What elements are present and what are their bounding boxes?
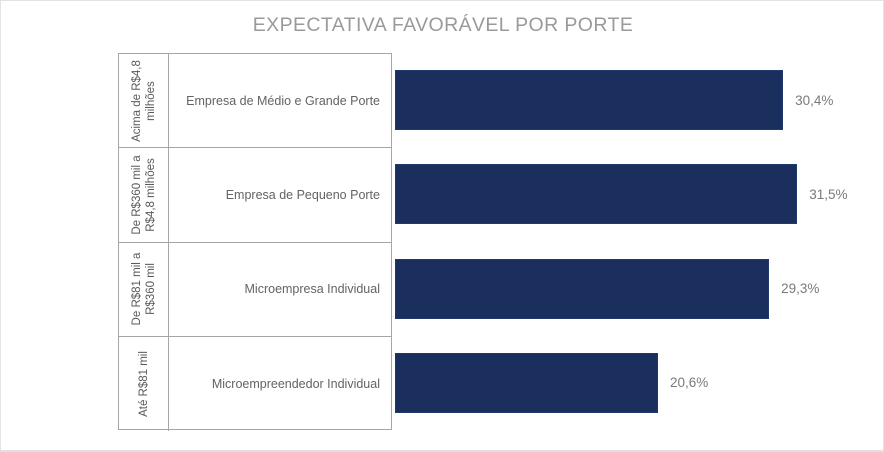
category-row: Acima de R$4,8 milhões Empresa de Médio … [119,54,391,148]
bar-row: 29,3% [395,242,851,336]
bar[interactable] [395,70,783,130]
category-label: Empresa de Médio e Grande Porte [186,94,380,108]
bar-value-label: 31,5% [809,187,847,202]
chart-title: EXPECTATIVA FAVORÁVEL POR PORTE [1,14,884,37]
category-name-cell: Microempreendedor Individual [169,337,391,431]
bar-value-label: 30,4% [795,93,833,108]
axis-tier-label: Até R$81 mil [137,338,151,430]
category-label: Empresa de Pequeno Porte [226,188,380,202]
bar-value-label: 29,3% [781,281,819,296]
bar[interactable] [395,164,797,224]
axis-tier-label-cell: Até R$81 mil [119,337,169,431]
bar-row: 31,5% [395,147,851,241]
category-row: De R$81 mil a R$360 mil Microempresa Ind… [119,243,391,337]
category-row: De R$360 mil a R$4,8 milhões Empresa de … [119,148,391,242]
bar[interactable] [395,259,769,319]
category-name-cell: Empresa de Pequeno Porte [169,148,391,241]
bars-layer: 30,4% 31,5% 29,3% 20,6% [395,53,851,430]
chart-container: EXPECTATIVA FAVORÁVEL POR PORTE Acima de… [0,0,884,452]
category-label: Microempreendedor Individual [212,377,380,391]
bar-value-label: 20,6% [670,375,708,390]
bar-row: 30,4% [395,53,851,147]
category-name-cell: Microempresa Individual [169,243,391,336]
category-axis-table: Acima de R$4,8 milhões Empresa de Médio … [118,53,392,430]
category-label: Microempresa Individual [245,282,380,296]
category-row: Até R$81 mil Microempreendedor Individua… [119,337,391,431]
axis-tier-label: De R$81 mil a R$360 mil [130,243,158,335]
axis-tier-label: De R$360 mil a R$4,8 milhões [130,149,158,241]
axis-tier-label-cell: De R$360 mil a R$4,8 milhões [119,148,169,241]
axis-tier-label-cell: Acima de R$4,8 milhões [119,54,169,147]
category-name-cell: Empresa de Médio e Grande Porte [169,54,391,147]
bar[interactable] [395,353,658,413]
bar-row: 20,6% [395,336,851,430]
axis-tier-label: Acima de R$4,8 milhões [130,55,158,147]
axis-tier-label-cell: De R$81 mil a R$360 mil [119,243,169,336]
plot-area: Acima de R$4,8 milhões Empresa de Médio … [118,53,851,430]
